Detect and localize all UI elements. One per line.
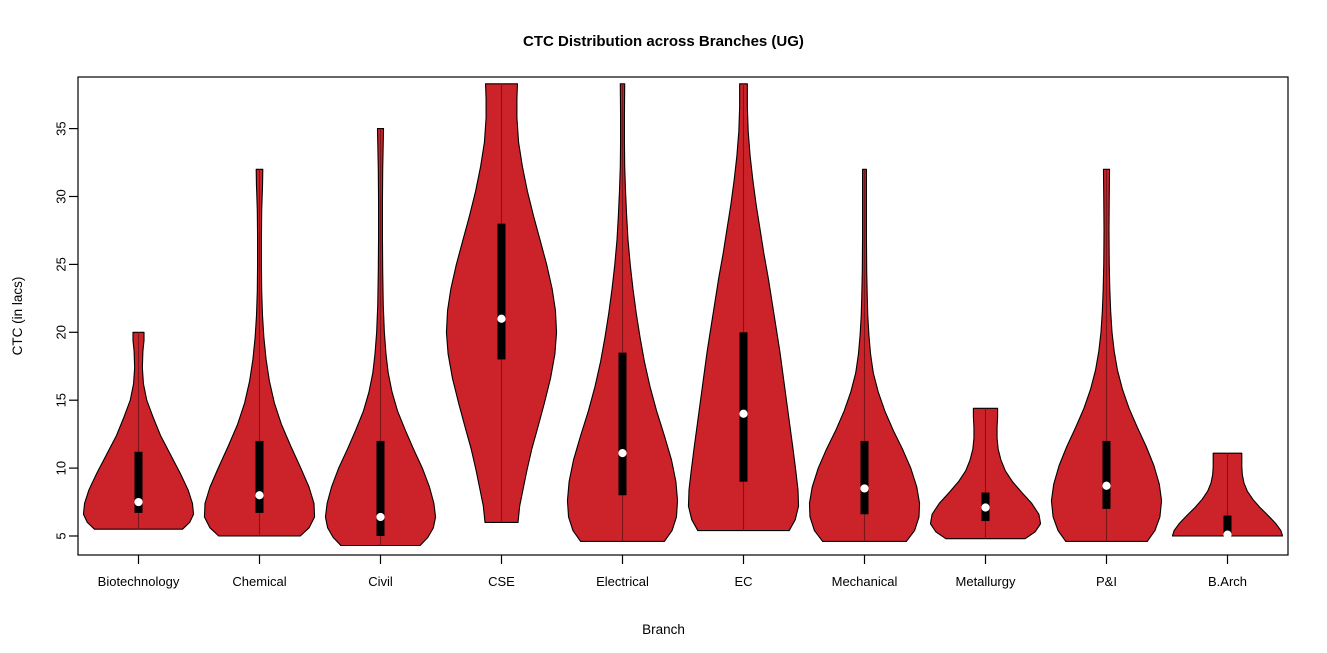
x-tick-label-metallurgy: Metallurgy: [956, 574, 1016, 589]
violin-iqr-box: [1103, 441, 1111, 509]
y-tick-label: 30: [54, 189, 69, 203]
x-tick-label-b-arch: B.Arch: [1208, 574, 1247, 589]
violin-iqr-box: [256, 441, 264, 513]
violins-layer: [83, 84, 1282, 546]
y-axis-label: CTC (in lacs): [10, 277, 25, 356]
violin-median-point: [376, 513, 384, 521]
x-tick-label-electrical: Electrical: [596, 574, 649, 589]
violin-metallurgy: [930, 408, 1040, 538]
violin-median-point: [618, 449, 626, 457]
x-axis-label: Branch: [642, 622, 685, 637]
x-axis-ticks: [139, 555, 1228, 564]
y-tick-label: 25: [54, 257, 69, 271]
y-tick-label: 35: [54, 121, 69, 135]
violin-iqr-box: [740, 332, 748, 481]
violin-cse: [446, 84, 556, 523]
x-tick-label-mechanical: Mechanical: [832, 574, 898, 589]
x-tick-label-civil: Civil: [368, 574, 393, 589]
chart-canvas: CTC Distribution across Branches (UG) CT…: [0, 0, 1327, 653]
y-axis-tick-labels: 5101520253035: [54, 121, 69, 539]
violin-median-point: [1223, 531, 1231, 539]
violin-median-point: [860, 484, 868, 492]
violin-civil: [325, 129, 435, 546]
y-tick-label: 5: [54, 532, 69, 539]
x-tick-label-ec: EC: [734, 574, 752, 589]
violin-median-point: [739, 410, 747, 418]
violin-plot-figure: CTC Distribution across Branches (UG) CT…: [0, 0, 1327, 653]
y-tick-label: 15: [54, 393, 69, 407]
x-tick-label-biotechnology: Biotechnology: [98, 574, 180, 589]
violin-b-arch: [1172, 453, 1282, 539]
violin-p-i: [1051, 169, 1161, 541]
violin-biotechnology: [83, 332, 193, 529]
violin-mechanical: [809, 169, 919, 541]
violin-median-point: [255, 491, 263, 499]
violin-iqr-box: [498, 224, 506, 360]
violin-chemical: [204, 169, 314, 536]
violin-median-point: [981, 503, 989, 511]
y-tick-label: 20: [54, 325, 69, 339]
x-tick-label-cse: CSE: [488, 574, 515, 589]
y-axis-ticks: [69, 129, 78, 536]
violin-electrical: [567, 84, 677, 542]
violin-median-point: [1102, 482, 1110, 490]
page-title: CTC Distribution across Branches (UG): [523, 33, 804, 50]
violin-median-point: [497, 315, 505, 323]
x-tick-label-p-i: P&I: [1096, 574, 1117, 589]
violin-ec: [688, 84, 798, 531]
violin-median-point: [134, 498, 142, 506]
violin-iqr-box: [377, 441, 385, 536]
violin-iqr-box: [861, 441, 869, 514]
violin-iqr-box: [619, 353, 627, 496]
x-tick-label-chemical: Chemical: [232, 574, 286, 589]
y-tick-label: 10: [54, 461, 69, 475]
x-axis-tick-labels: BiotechnologyChemicalCivilCSEElectricalE…: [98, 574, 1247, 589]
